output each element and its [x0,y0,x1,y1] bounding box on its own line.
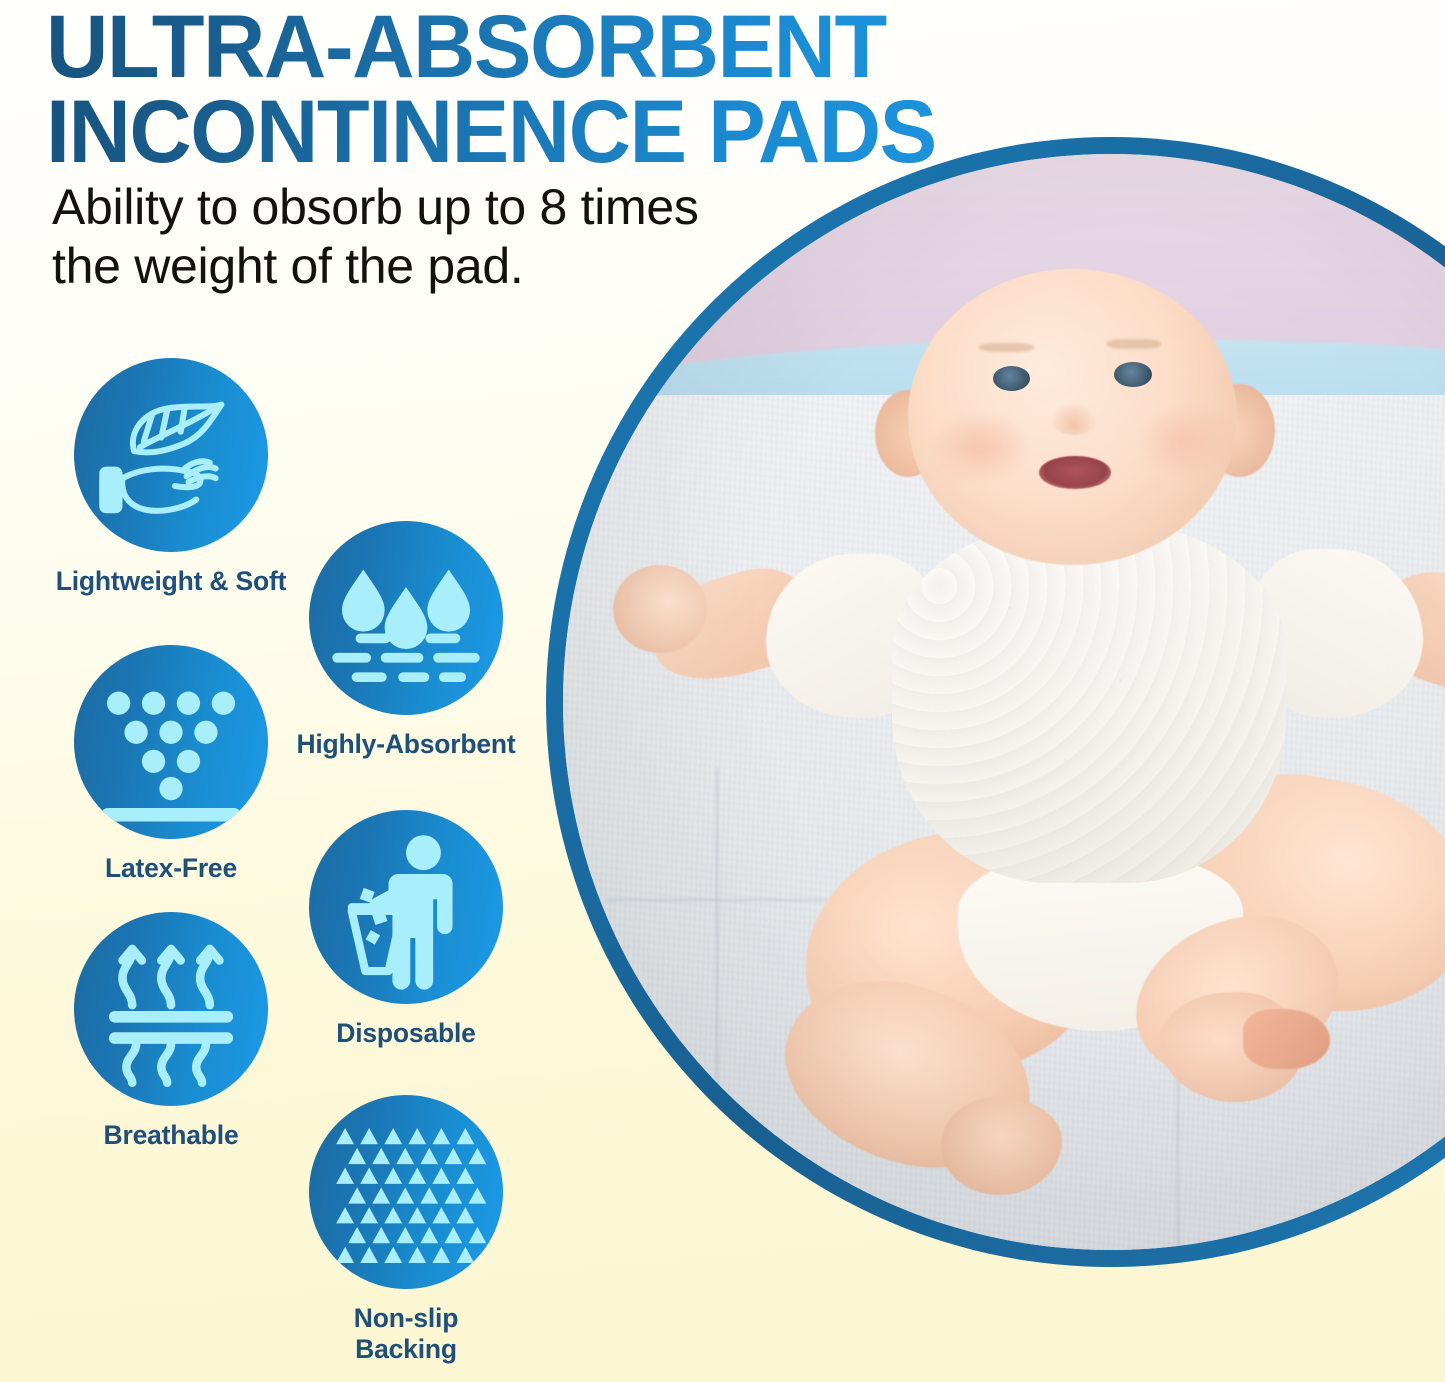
feature-icon-circle [74,358,268,552]
product-infographic: ULTRA-ABSORBENT INCONTINENCE PADS Abilit… [0,0,1445,1382]
feature-icon-circle [74,912,268,1106]
feature-icon-circle [309,1095,503,1289]
feature-lightweight-soft: Lightweight & Soft [52,358,290,597]
feature-label: Latex-Free [52,853,290,884]
person-throwing-trash-icon [309,810,503,1004]
feature-icon-circle [309,810,503,1004]
water-droplets-absorbing-icon [309,521,503,715]
hero-photo-baby-on-pad [563,154,1445,1250]
feature-label: Breathable [52,1120,290,1151]
feature-icon-circle [309,521,503,715]
feature-label: Lightweight & Soft [52,566,290,597]
feature-disposable: Disposable [287,810,525,1049]
feature-label: Disposable [287,1018,525,1049]
feature-non-slip-backing: Non-slip Backing [287,1095,525,1366]
page-title: ULTRA-ABSORBENT INCONTINENCE PADS [46,4,1074,173]
particles-over-bar-icon [74,645,268,839]
feature-label: Highly-Absorbent [287,729,525,760]
hand-holding-feather-icon [74,358,268,552]
hero-photo-ring [546,137,1445,1267]
feature-latex-free: Latex-Free [52,645,290,884]
photo-vignette [563,154,1445,1250]
airflow-arrows-icon [74,912,268,1106]
feature-label: Non-slip Backing [287,1303,525,1366]
feature-breathable: Breathable [52,912,290,1151]
feature-highly-absorbent: Highly-Absorbent [287,521,525,760]
feature-icon-circle [74,645,268,839]
grip-triangles-icon [309,1095,503,1289]
